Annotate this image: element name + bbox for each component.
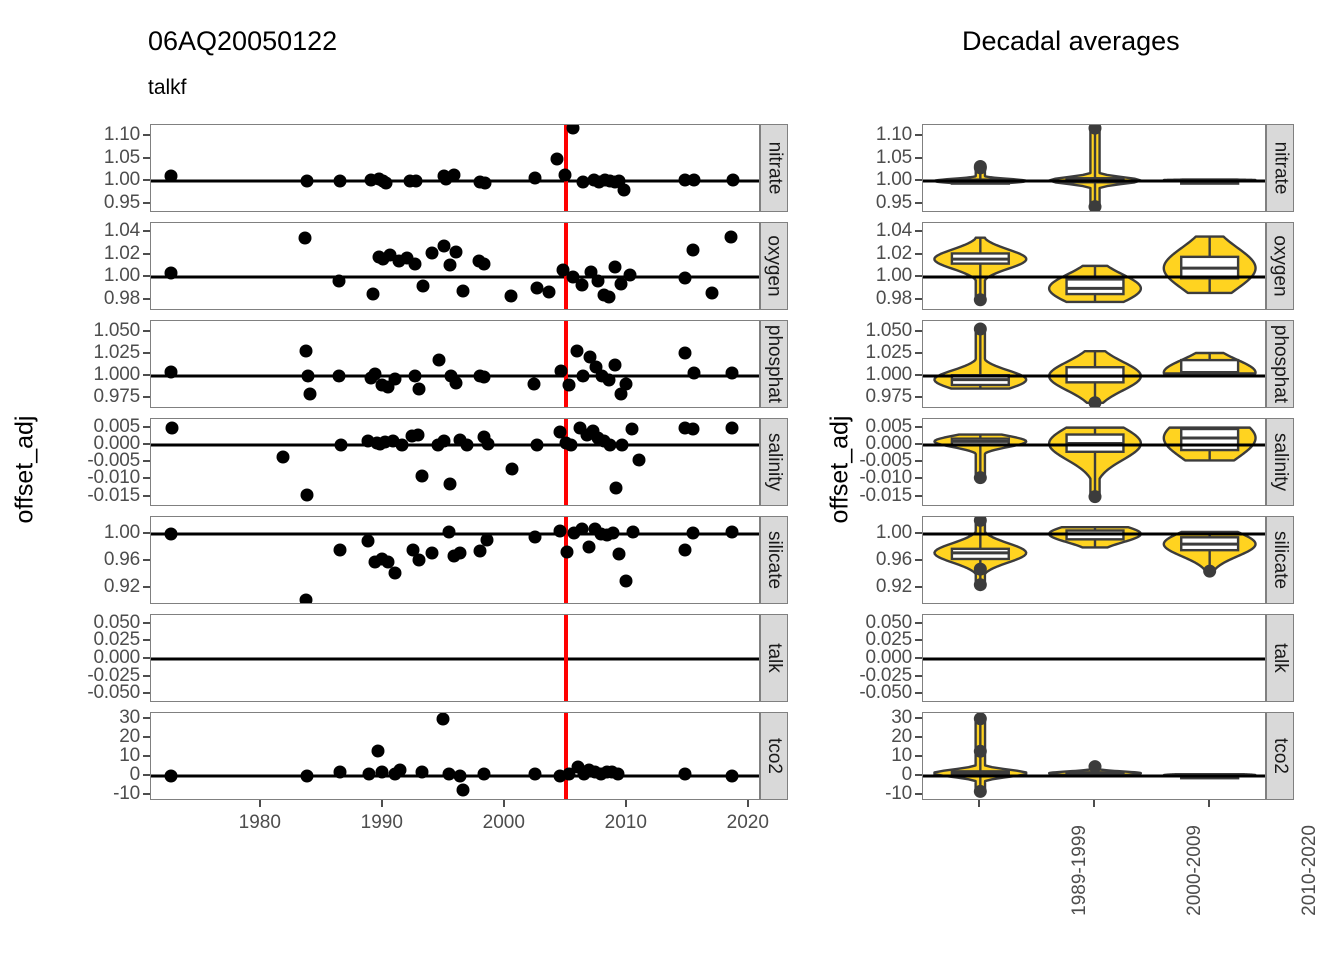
data-point [567, 124, 580, 135]
outlier-point [1089, 760, 1102, 773]
data-point [460, 438, 473, 451]
y-tick-label: 1.02 [876, 243, 912, 265]
data-point [624, 268, 637, 281]
data-point [417, 280, 430, 293]
y-tick-mark [143, 134, 150, 136]
cruise-year-reference-line [564, 615, 568, 701]
y-tick-mark [143, 657, 150, 659]
y-axis-oxygen: 0.981.001.021.04 [772, 222, 922, 310]
y-tick-mark [915, 426, 922, 428]
data-point [164, 527, 177, 540]
y-tick-mark [915, 179, 922, 181]
data-point [432, 354, 445, 367]
data-point [686, 527, 699, 540]
y-tick-mark [915, 396, 922, 398]
data-point [528, 378, 541, 391]
y-axis-talk: -0.050-0.0250.0000.0250.050 [772, 614, 922, 702]
data-point [608, 359, 621, 372]
facet-panel-tco2 [922, 712, 1266, 800]
data-point [443, 258, 456, 271]
data-point [618, 183, 631, 196]
data-point [612, 768, 625, 781]
data-point [332, 370, 345, 383]
y-axis-silicate: 0.920.961.00 [0, 516, 150, 604]
data-point [413, 553, 426, 566]
y-tick-mark [143, 755, 150, 757]
facet-strip-label: phosphat [1269, 325, 1291, 403]
y-tick-label: 0.95 [876, 192, 912, 214]
data-point [530, 438, 543, 451]
x-tick-mark [259, 800, 261, 807]
data-point [608, 261, 621, 274]
facet-panel-salinity [922, 418, 1266, 506]
y-tick-label: 1.050 [865, 320, 912, 342]
facet-panel-talk [922, 614, 1266, 702]
data-point [563, 379, 576, 392]
data-point [554, 364, 567, 377]
left-plot-subtitle: talkf [148, 76, 187, 100]
y-tick-label: 0.975 [865, 386, 912, 408]
y-tick-mark [143, 330, 150, 332]
data-point [437, 239, 450, 252]
data-point [529, 530, 542, 543]
x-tick-label: 1980 [239, 812, 281, 834]
reference-hline-overlay [923, 180, 1265, 183]
facet-panel-nitrate [150, 124, 760, 212]
data-point [575, 279, 588, 292]
y-tick-label: 1.02 [104, 243, 140, 265]
data-point [626, 525, 639, 538]
x-tick-mark [1093, 800, 1095, 807]
data-point [332, 274, 345, 287]
outlier-point [974, 745, 987, 758]
data-point [529, 768, 542, 781]
data-point [478, 257, 491, 270]
outlier-point [1089, 490, 1102, 503]
data-point [725, 367, 738, 380]
data-point [706, 286, 719, 299]
data-point [564, 438, 577, 451]
y-tick-mark [143, 793, 150, 795]
y-axis-tco2: -100102030 [772, 712, 922, 800]
data-point [480, 534, 493, 547]
data-point [602, 373, 615, 386]
data-point [362, 534, 375, 547]
y-axis-salinity: -0.015-0.010-0.0050.0000.005 [772, 418, 922, 506]
y-tick-label: 0.005 [865, 416, 912, 438]
y-tick-mark [143, 230, 150, 232]
y-tick-label: 1.025 [93, 342, 140, 364]
data-point [415, 766, 428, 779]
y-axis-nitrate: 0.951.001.051.10 [0, 124, 150, 212]
data-point [415, 469, 428, 482]
data-point [164, 365, 177, 378]
data-point [301, 175, 314, 188]
x-tick-mark [503, 800, 505, 807]
y-tick-mark [143, 622, 150, 624]
y-tick-mark [143, 253, 150, 255]
y-tick-mark [915, 157, 922, 159]
facet-panel-tco2 [150, 712, 760, 800]
y-axis-talk: -0.050-0.0250.0000.0250.050 [0, 614, 150, 702]
facet-strip-nitrate: nitrate [1266, 124, 1294, 212]
y-tick-mark [915, 202, 922, 204]
y-tick-mark [143, 495, 150, 497]
y-tick-mark [915, 330, 922, 332]
data-point [591, 274, 604, 287]
y-tick-mark [143, 477, 150, 479]
outlier-point [1203, 565, 1216, 578]
facet-panel-talk [150, 614, 760, 702]
data-point [375, 766, 388, 779]
data-point [301, 770, 314, 783]
facet-strip-phosphat: phosphat [1266, 320, 1294, 408]
y-tick-mark [915, 477, 922, 479]
y-tick-mark [143, 157, 150, 159]
figure-root: 06AQ20050122 talkf offset_adj 0.951.001.… [0, 0, 1344, 960]
y-tick-mark [143, 460, 150, 462]
data-point [679, 347, 692, 360]
y-tick-label: 1.00 [104, 265, 140, 287]
outlier-point [974, 785, 987, 798]
reference-hline-overlay [923, 532, 1265, 535]
data-point [687, 366, 700, 379]
data-point [436, 712, 449, 725]
data-point [615, 438, 628, 451]
y-tick-mark [915, 717, 922, 719]
data-point [686, 423, 699, 436]
facet-strip-tco2: tco2 [1266, 712, 1294, 800]
reference-hline-overlay [923, 276, 1265, 279]
data-point [542, 285, 555, 298]
data-point [724, 230, 737, 243]
data-point [575, 523, 588, 536]
facet-strip-label: tco2 [1269, 738, 1291, 774]
facet-strip-label: salinity [1269, 433, 1291, 491]
y-tick-mark [143, 396, 150, 398]
y-tick-label: 10 [119, 745, 140, 767]
y-tick-label: 30 [119, 707, 140, 729]
x-tick-mark [747, 800, 749, 807]
y-tick-label: 1.04 [876, 220, 912, 242]
data-point [679, 544, 692, 557]
outlier-point [974, 578, 987, 591]
y-tick-mark [915, 374, 922, 376]
data-point [453, 546, 466, 559]
data-point [506, 463, 519, 476]
data-point [164, 169, 177, 182]
data-point [442, 525, 455, 538]
x-tick-label: 1989-1999 [1069, 825, 1091, 916]
data-point [530, 282, 543, 295]
right-plot-title: Decadal averages [962, 26, 1180, 57]
data-point [380, 176, 393, 189]
y-tick-mark [143, 675, 150, 677]
data-point [165, 422, 178, 435]
y-tick-label: 0 [130, 764, 140, 786]
y-tick-mark [915, 736, 922, 738]
data-point [551, 152, 564, 165]
data-point [409, 174, 422, 187]
y-tick-mark [915, 675, 922, 677]
data-point [389, 567, 402, 580]
y-axis-nitrate: 0.951.001.051.10 [772, 124, 922, 212]
data-point [276, 450, 289, 463]
y-tick-mark [143, 275, 150, 277]
y-tick-label: 0.98 [104, 288, 140, 310]
data-point [504, 290, 517, 303]
y-tick-mark [143, 639, 150, 641]
y-axis-phosphat: 0.9751.0001.0251.050 [0, 320, 150, 408]
violin-layer-oxygen [923, 223, 1266, 310]
x-tick-label: 2000-2009 [1184, 825, 1206, 916]
data-point [582, 541, 595, 554]
y-tick-label: 1.00 [876, 522, 912, 544]
data-point [679, 272, 692, 285]
data-point [164, 770, 177, 783]
data-point [725, 770, 738, 783]
data-point [367, 288, 380, 301]
data-point [561, 545, 574, 558]
x-tick-mark [381, 800, 383, 807]
data-point [725, 421, 738, 434]
data-point [437, 435, 450, 448]
data-point [299, 345, 312, 358]
reference-hline-overlay [923, 375, 1265, 378]
x-tick-label: 1990 [361, 812, 403, 834]
boxplot-box [1181, 429, 1238, 450]
data-point [478, 768, 491, 781]
facet-strip-label: nitrate [1269, 142, 1291, 195]
y-tick-mark [915, 460, 922, 462]
y-tick-mark [143, 559, 150, 561]
data-point [478, 371, 491, 384]
outlier-point [974, 471, 987, 484]
data-point [558, 168, 571, 181]
y-tick-mark [143, 717, 150, 719]
data-point [334, 174, 347, 187]
y-tick-mark [143, 586, 150, 588]
x-tick-mark [1208, 800, 1210, 807]
y-tick-label: 1.05 [876, 147, 912, 169]
y-tick-label: 1.00 [104, 169, 140, 191]
data-point [412, 429, 425, 442]
facet-strip-salinity: salinity [1266, 418, 1294, 506]
y-tick-mark [915, 774, 922, 776]
y-tick-mark [143, 374, 150, 376]
y-tick-label: -10 [113, 783, 140, 805]
data-point [619, 378, 632, 391]
violin-layer-silicate [923, 517, 1266, 604]
data-point [479, 177, 492, 190]
facet-panel-nitrate [922, 124, 1266, 212]
facet-panel-oxygen [922, 222, 1266, 310]
data-point [408, 370, 421, 383]
violin-layer-salinity [923, 419, 1266, 506]
data-point [576, 370, 589, 383]
data-point [619, 574, 632, 587]
outlier-point [974, 563, 987, 576]
facet-strip-label: talk [1269, 643, 1291, 673]
data-point [725, 525, 738, 538]
outlier-point [974, 323, 987, 336]
facet-strip-label: silicate [1269, 531, 1291, 589]
data-point [687, 174, 700, 187]
y-tick-label: 1.05 [104, 147, 140, 169]
data-point [443, 477, 456, 490]
facet-panel-salinity [150, 418, 760, 506]
data-point [607, 526, 620, 539]
x-tick-mark [978, 800, 980, 807]
data-point [686, 244, 699, 257]
violin-layer-nitrate [923, 125, 1266, 212]
data-point [334, 766, 347, 779]
data-point [393, 764, 406, 777]
y-tick-label: 0.005 [93, 416, 140, 438]
data-point [335, 438, 348, 451]
y-tick-mark [143, 298, 150, 300]
data-point [679, 768, 692, 781]
y-tick-label: 1.00 [104, 522, 140, 544]
y-tick-mark [143, 774, 150, 776]
y-tick-mark [143, 352, 150, 354]
data-point [298, 231, 311, 244]
y-tick-mark [915, 443, 922, 445]
y-tick-mark [915, 495, 922, 497]
reference-hline [151, 658, 759, 661]
y-tick-mark [143, 692, 150, 694]
cruise-year-reference-line [564, 713, 568, 799]
data-point [609, 482, 622, 495]
y-tick-label: 20 [891, 726, 912, 748]
y-axis-tco2: -100102030 [0, 712, 150, 800]
y-tick-label: 0.96 [104, 549, 140, 571]
data-point [408, 257, 421, 270]
y-tick-label: -10 [885, 783, 912, 805]
y-axis-salinity: -0.015-0.010-0.0050.0000.005 [0, 418, 150, 506]
y-tick-mark [915, 352, 922, 354]
facet-strip-oxygen: oxygen [1266, 222, 1294, 310]
y-tick-mark [915, 559, 922, 561]
data-point [453, 770, 466, 783]
y-tick-mark [143, 736, 150, 738]
y-tick-label: 10 [891, 745, 912, 767]
y-tick-label: 0.98 [876, 288, 912, 310]
reference-hline-overlay [923, 658, 1265, 661]
y-tick-mark [915, 230, 922, 232]
data-point [299, 593, 312, 604]
y-tick-mark [915, 793, 922, 795]
outlier-point [974, 293, 987, 306]
y-tick-mark [915, 639, 922, 641]
y-tick-mark [915, 586, 922, 588]
y-tick-mark [143, 443, 150, 445]
data-point [529, 172, 542, 185]
left-plot-title: 06AQ20050122 [148, 26, 337, 57]
y-tick-mark [143, 532, 150, 534]
data-point [334, 544, 347, 557]
y-tick-mark [143, 179, 150, 181]
y-tick-label: 1.000 [93, 364, 140, 386]
data-point [447, 168, 460, 181]
y-tick-mark [915, 692, 922, 694]
data-point [613, 548, 626, 561]
facet-strip-silicate: silicate [1266, 516, 1294, 604]
y-tick-mark [143, 426, 150, 428]
data-point [371, 745, 384, 758]
x-tick-label: 2020 [727, 812, 769, 834]
data-point [425, 247, 438, 260]
data-point [457, 783, 470, 796]
facet-panel-phosphat [922, 320, 1266, 408]
y-axis-silicate: 0.920.961.00 [772, 516, 922, 604]
facet-panel-silicate [150, 516, 760, 604]
facet-strip-talk: talk [1266, 614, 1294, 702]
y-tick-label: 30 [891, 707, 912, 729]
data-point [457, 284, 470, 297]
y-tick-mark [915, 253, 922, 255]
data-point [164, 266, 177, 279]
y-axis-phosphat: 0.9751.0001.0251.050 [772, 320, 922, 408]
data-point [413, 382, 426, 395]
data-point [302, 370, 315, 383]
data-point [303, 387, 316, 400]
x-tick-label: 2010 [605, 812, 647, 834]
data-point [363, 768, 376, 781]
x-tick-label: 2010-2020 [1299, 825, 1321, 916]
data-point [602, 291, 615, 304]
y-tick-label: 0.92 [104, 576, 140, 598]
boxplot-box [1067, 279, 1124, 294]
y-tick-label: 1.00 [876, 169, 912, 191]
data-point [450, 246, 463, 259]
y-tick-label: 1.025 [865, 342, 912, 364]
y-tick-label: 1.050 [93, 320, 140, 342]
violin-layer-phosphat [923, 321, 1266, 408]
facet-panel-oxygen [150, 222, 760, 310]
reference-hline-overlay [923, 443, 1265, 446]
y-tick-label: 0.050 [865, 612, 912, 634]
y-tick-mark [915, 134, 922, 136]
x-tick-mark [625, 800, 627, 807]
y-tick-label: 20 [119, 726, 140, 748]
y-tick-mark [915, 622, 922, 624]
data-point [625, 423, 638, 436]
y-tick-mark [915, 657, 922, 659]
y-tick-mark [915, 298, 922, 300]
reference-hline [151, 276, 759, 279]
y-tick-label: 0.95 [104, 192, 140, 214]
facet-panel-silicate [922, 516, 1266, 604]
data-point [425, 546, 438, 559]
y-tick-label: 0.050 [93, 612, 140, 634]
y-tick-mark [915, 275, 922, 277]
y-tick-label: 0.92 [876, 576, 912, 598]
data-point [570, 345, 583, 358]
y-axis-oxygen: 0.981.001.021.04 [0, 222, 150, 310]
outlier-point [974, 160, 987, 173]
data-point [553, 524, 566, 537]
y-tick-mark [915, 755, 922, 757]
y-tick-label: 1.000 [865, 364, 912, 386]
facet-panel-phosphat [150, 320, 760, 408]
y-tick-label: 1.04 [104, 220, 140, 242]
data-point [301, 488, 314, 501]
x-tick-label: 2000 [483, 812, 525, 834]
y-tick-label: 0 [902, 764, 912, 786]
violin-layer-tco2 [923, 713, 1266, 800]
y-tick-label: 1.10 [876, 124, 912, 146]
